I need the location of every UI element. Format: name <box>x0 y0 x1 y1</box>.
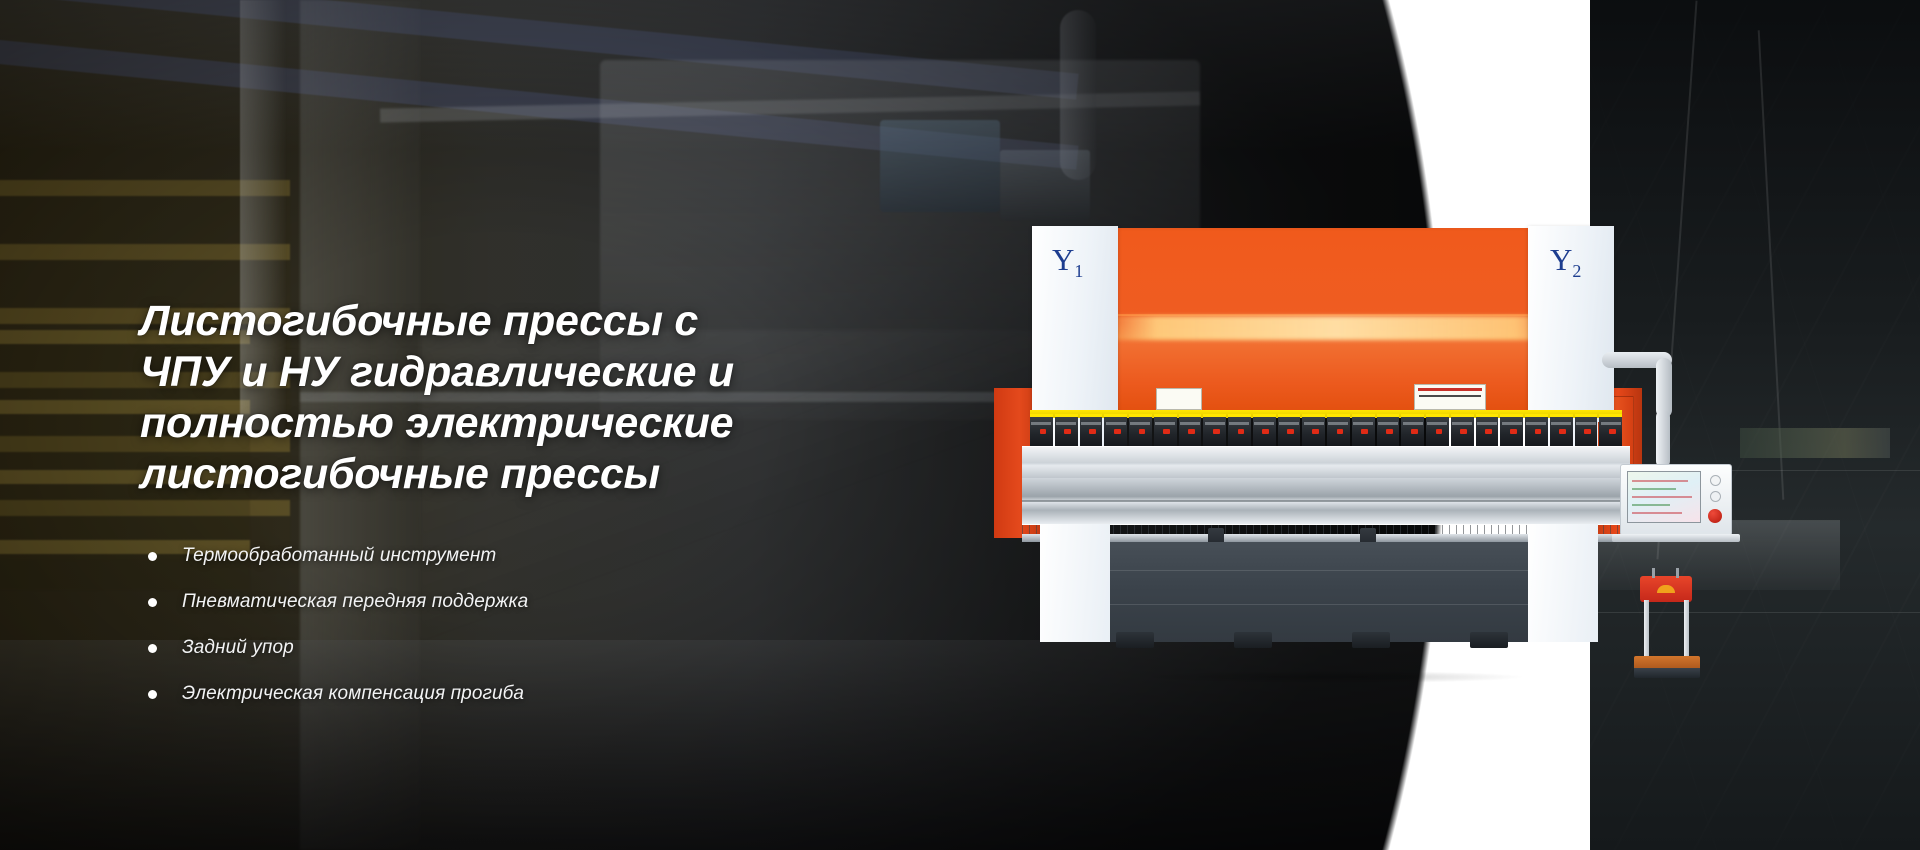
machine-tool-clamp <box>1302 414 1325 448</box>
axis-label-subscript: 2 <box>1572 261 1581 281</box>
machine-tool-clamp <box>1253 414 1276 448</box>
machine-base-foot <box>1352 632 1390 648</box>
list-item-label: Термообработанный инструмент <box>182 545 496 566</box>
machine-cnc-tray <box>1612 534 1740 542</box>
machine-tool-clamp <box>1451 414 1474 448</box>
machine-tool-clamp <box>1278 414 1301 448</box>
pedal-leg <box>1684 600 1689 662</box>
list-item-label: Пневматическая передняя поддержка <box>182 591 528 612</box>
cnc-emergency-stop-button[interactable] <box>1708 509 1722 523</box>
machine-bed-panel <box>1104 542 1552 642</box>
machine-tool-clamp <box>1575 414 1598 448</box>
machine-ram-light-strip <box>1100 316 1572 340</box>
machine-tool-clamp <box>1401 414 1424 448</box>
machine-tool-clamp <box>1327 414 1350 448</box>
machine-label-plate <box>1156 388 1202 410</box>
machine-tool-clamp <box>1104 414 1127 448</box>
headline-line-2: ЧПУ и НУ гидравлические и <box>140 347 900 398</box>
machine-base-foot <box>1234 632 1272 648</box>
axis-label-letter: Y <box>1052 242 1074 277</box>
photo-detail-control-panel <box>880 120 1000 212</box>
list-item-label: Задний упор <box>182 637 294 658</box>
list-item: Электрическая компенсация прогиба <box>140 682 900 706</box>
machine-warning-plate <box>1414 384 1486 410</box>
feature-list: Термообработанный инструмент Пневматичес… <box>140 544 900 706</box>
list-item-label: Электрическая компенсация прогиба <box>182 683 524 704</box>
machine-beam-seam <box>1022 500 1630 502</box>
machine-tool-clamp <box>1203 414 1226 448</box>
list-item: Задний упор <box>140 636 900 660</box>
machine-tool-clamp <box>1500 414 1523 448</box>
pedal-knob <box>1676 568 1679 578</box>
machine-tool-clamp <box>1129 414 1152 448</box>
photo-detail-control-panel <box>1000 150 1090 220</box>
photo-detail-tube <box>1060 10 1096 180</box>
machine-tool-clamp <box>1352 414 1375 448</box>
machine-tool-clamp <box>1228 414 1251 448</box>
pedal-leg <box>1644 600 1649 662</box>
cnc-screen[interactable] <box>1627 471 1701 523</box>
headline-line-1: Листогибочные прессы с <box>140 296 900 347</box>
axis-label-letter: Y <box>1550 242 1572 277</box>
machine-foot-pedal[interactable] <box>1640 576 1692 602</box>
press-brake-machine-image: Y1 Y2 <box>1008 228 1708 648</box>
bullet-dot-icon <box>148 552 157 561</box>
photo-detail-beam <box>380 91 1200 122</box>
machine-articulated-arm-segment <box>1656 358 1672 418</box>
axis-label-subscript: 1 <box>1074 261 1083 281</box>
machine-tool-clamp <box>1080 414 1103 448</box>
pedal-knob <box>1652 568 1655 578</box>
pedal-base-shadow <box>1634 668 1700 678</box>
machine-ground-shadow <box>1048 668 1608 686</box>
hero-copy: Листогибочные прессы с ЧПУ и НУ гидравли… <box>140 296 900 728</box>
machine-skirt-right <box>1528 524 1598 642</box>
machine-tool-clamp <box>1426 414 1449 448</box>
machine-tool-clamp-row <box>1030 414 1622 448</box>
machine-tool-clamp <box>1030 414 1053 448</box>
bullet-dot-icon <box>148 598 157 607</box>
pedal-cover <box>1657 585 1675 593</box>
list-item: Пневматическая передняя поддержка <box>140 590 900 614</box>
photo-detail-board <box>1740 428 1890 458</box>
hero-banner: Листогибочные прессы с ЧПУ и НУ гидравли… <box>0 0 1920 850</box>
machine-tool-clamp <box>1179 414 1202 448</box>
machine-upper-beam <box>1022 446 1630 480</box>
machine-base-foot <box>1116 632 1154 648</box>
machine-tool-clamp <box>1550 414 1573 448</box>
list-item: Термообработанный инструмент <box>140 544 900 568</box>
photo-detail-ceiling <box>0 0 1445 150</box>
machine-tool-clamp <box>1055 414 1078 448</box>
machine-articulated-arm-segment <box>1656 410 1670 468</box>
machine-tool-clamp <box>1525 414 1548 448</box>
cnc-button[interactable] <box>1710 475 1721 486</box>
photo-detail-blue-stripe <box>0 0 1079 100</box>
photo-detail-blue-stripe <box>0 38 1079 169</box>
machine-tool-clamp <box>1154 414 1177 448</box>
headline-line-4: листогибочные прессы <box>140 449 900 500</box>
bullet-dot-icon <box>148 690 157 699</box>
machine-tool-clamp <box>1476 414 1499 448</box>
machine-tool-clamp <box>1599 414 1622 448</box>
machine-axis-label-y1: Y1 <box>1052 242 1083 282</box>
headline-line-3: полностью электрические <box>140 398 900 449</box>
page-title: Листогибочные прессы с ЧПУ и НУ гидравли… <box>140 296 900 500</box>
bullet-dot-icon <box>148 644 157 653</box>
cnc-button[interactable] <box>1710 491 1721 502</box>
machine-skirt-left <box>1040 524 1110 642</box>
machine-axis-label-y2: Y2 <box>1550 242 1581 282</box>
machine-base-foot <box>1470 632 1508 648</box>
machine-tool-clamp <box>1377 414 1400 448</box>
machine-cnc-control-panel[interactable] <box>1620 464 1732 536</box>
